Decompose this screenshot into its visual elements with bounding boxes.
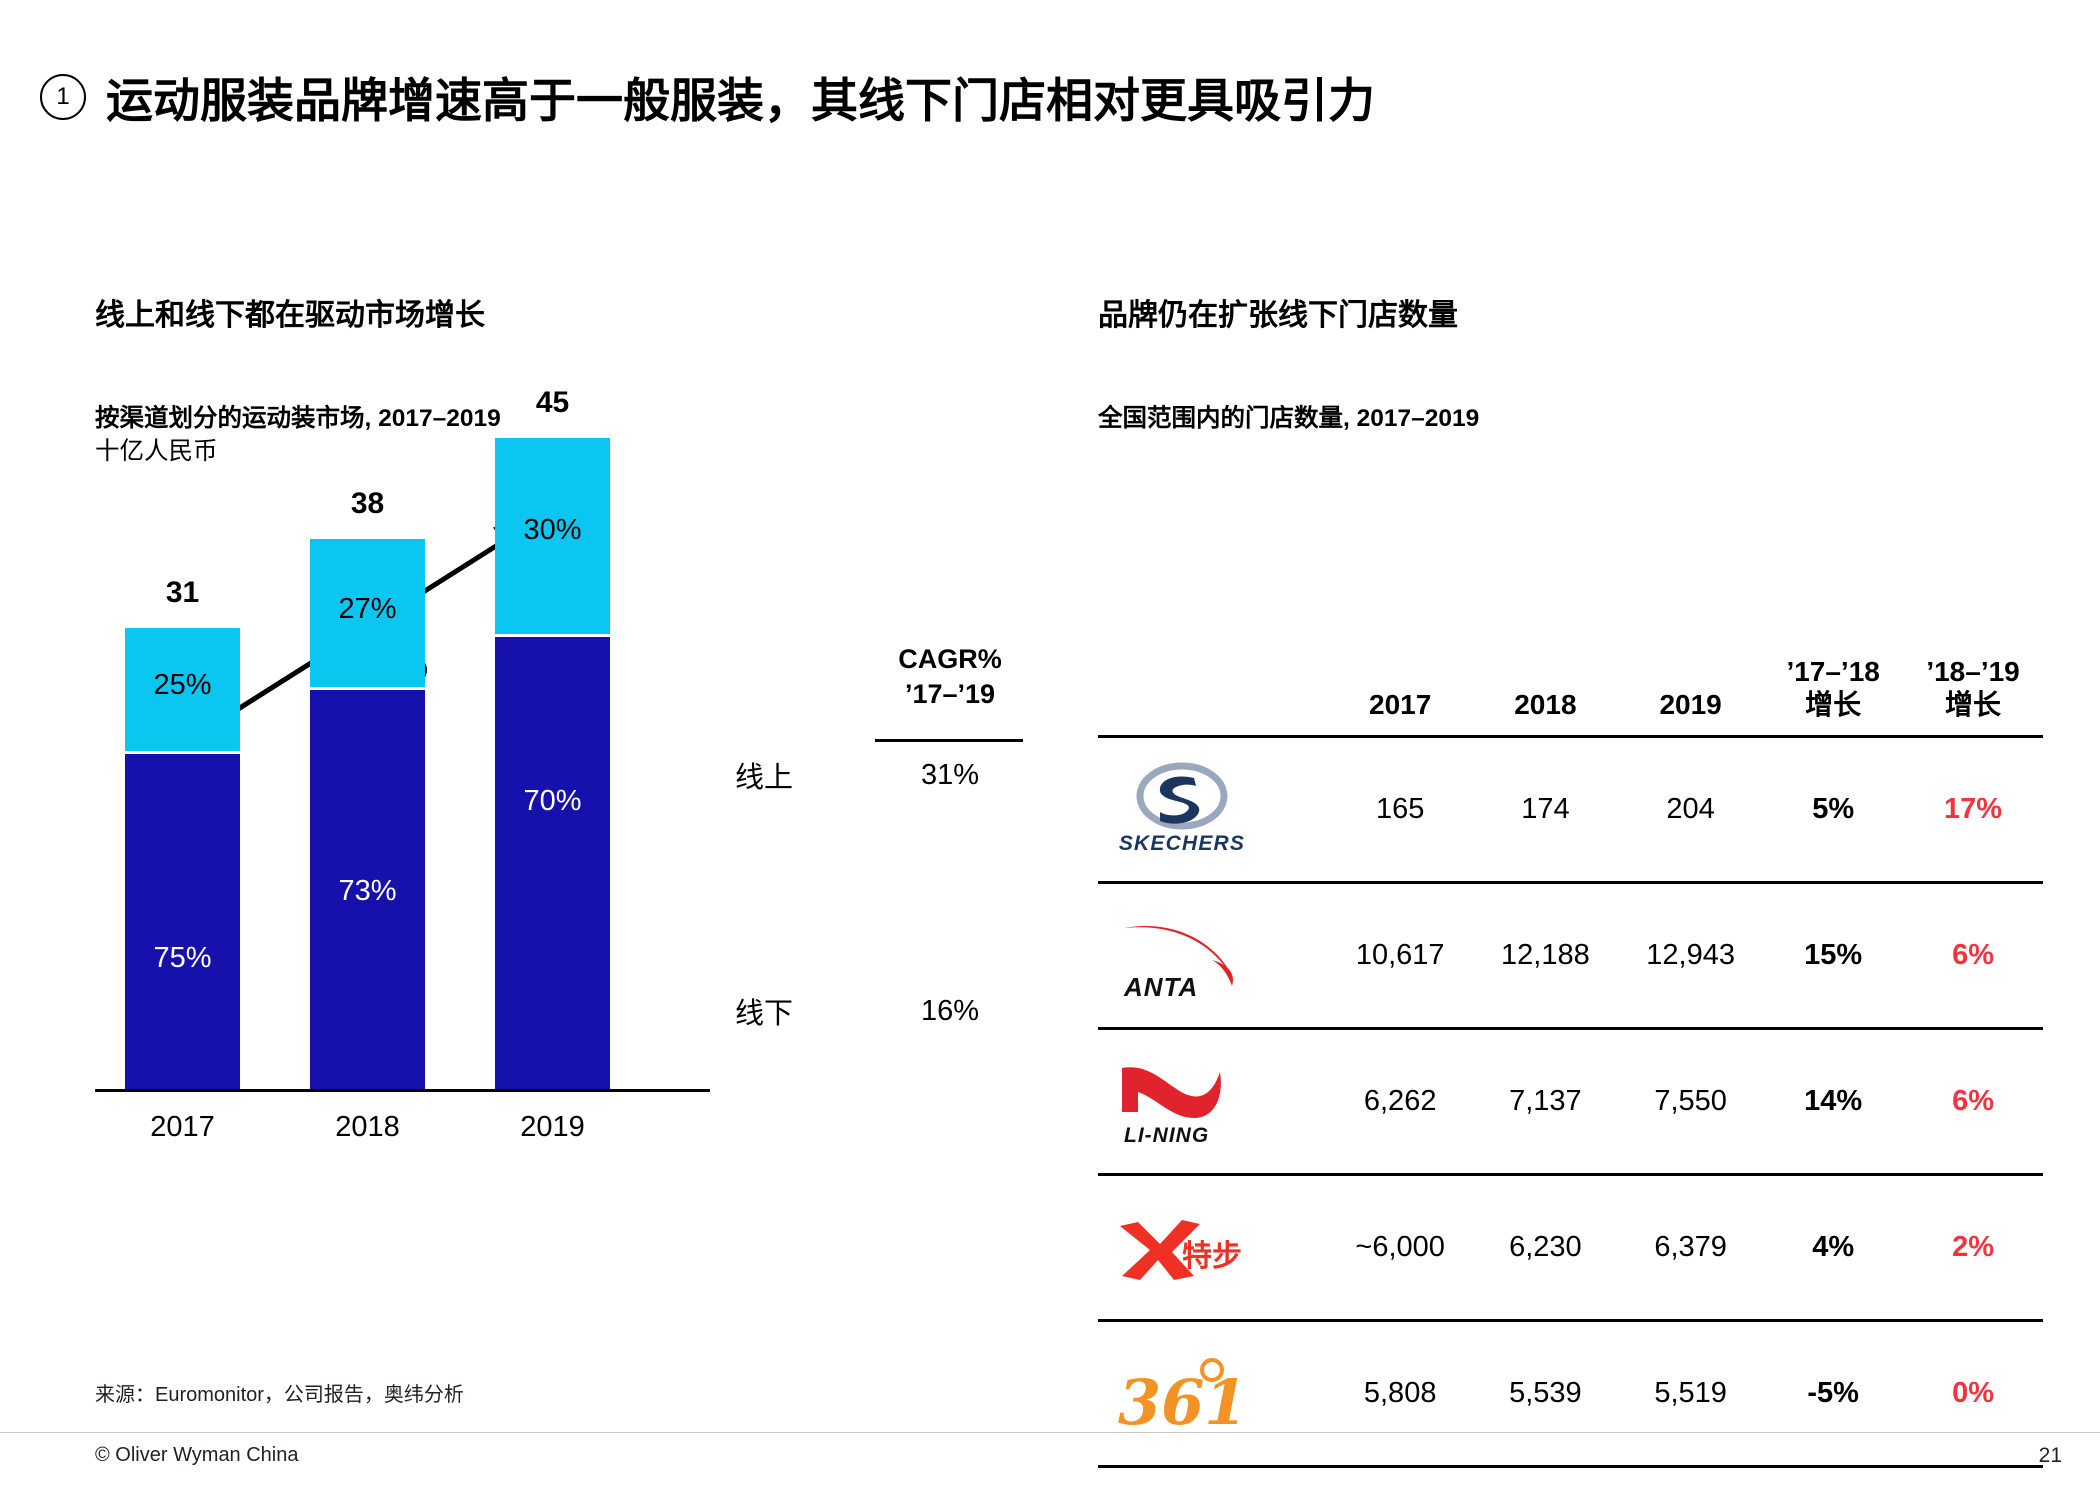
cell-2017: 10,617 <box>1328 883 1473 1029</box>
x-axis-line <box>95 1089 710 1092</box>
cell-2018: 7,137 <box>1473 1029 1618 1175</box>
cagr-header-line2: ’17–’19 <box>875 677 1025 712</box>
bar-group-2019[interactable]: 45 30% 70% <box>495 438 610 1089</box>
cell-2018: 12,188 <box>1473 883 1618 1029</box>
table-row[interactable]: 361 5,808 5,539 5,519 -5% 0% <box>1098 1321 2043 1467</box>
cell-2018: 5,539 <box>1473 1321 1618 1467</box>
brand-cell-skechers: SKECHERS <box>1098 737 1328 883</box>
svg-text:SKECHERS: SKECHERS <box>1119 832 1245 855</box>
bar-label-online-2018: 27% <box>310 593 425 626</box>
cell-2017: ~6,000 <box>1328 1175 1473 1321</box>
bar-label-offline-2018: 73% <box>310 875 425 908</box>
li-ning-logo-icon: LI-NING <box>1116 1054 1301 1150</box>
col-header-2018: 2018 <box>1473 655 1618 737</box>
store-count-table: 2017 2018 2019 ’17–’18 增长 ’18–’19 增长 SKE… <box>1098 655 2043 1468</box>
skechers-logo-icon: SKECHERS <box>1116 762 1301 858</box>
legend-label-online: 线上 <box>735 754 875 796</box>
table-row[interactable]: ANTA 10,617 12,188 12,943 15% 6% <box>1098 883 2043 1029</box>
cell-growth-1819: 17% <box>1903 737 2043 883</box>
svg-text:特步: 特步 <box>1182 1239 1242 1274</box>
col-header-2017: 2017 <box>1328 655 1473 737</box>
cell-2019: 6,379 <box>1618 1175 1763 1321</box>
page-title: 运动服装品牌增速高于一般服装，其线下门店相对更具吸引力 <box>106 62 1375 131</box>
bar-label-offline-2019: 70% <box>495 785 610 818</box>
table-row[interactable]: 特步 ~6,000 6,230 6,379 4% 2% <box>1098 1175 2043 1321</box>
legend-label-offline: 线下 <box>735 990 875 1032</box>
col-header-growth-1819-label: 增长 <box>1903 688 2043 721</box>
right-panel-subtitle: 全国范围内的门店数量, 2017–2019 <box>1098 402 2038 435</box>
cell-2019: 5,519 <box>1618 1321 1763 1467</box>
col-header-growth-1819: ’18–’19 增长 <box>1903 655 2043 737</box>
bar-segment-offline-2019[interactable]: 70% <box>495 634 610 1089</box>
xtep-logo-icon: 特步 <box>1116 1200 1301 1296</box>
cell-2019: 12,943 <box>1618 883 1763 1029</box>
cell-growth-1718: -5% <box>1763 1321 1903 1467</box>
bar-label-online-2017: 25% <box>125 669 240 702</box>
x-tick-2018: 2018 <box>310 1111 425 1144</box>
brand-cell-anta: ANTA <box>1098 883 1328 1029</box>
step-number-badge: 1 <box>40 74 86 120</box>
slide-title-row: 1 运动服装品牌增速高于一般服装，其线下门店相对更具吸引力 <box>40 62 1375 131</box>
cell-2018: 174 <box>1473 737 1618 883</box>
col-header-growth-1718-label: 增长 <box>1763 688 1903 721</box>
brand-cell-xtep: 特步 <box>1098 1175 1328 1321</box>
chart-plot-area: 31 25% 75% 2017 38 27% 73% 2018 <box>95 492 710 1152</box>
bar-total-2018: 38 <box>310 487 425 521</box>
cell-2018: 6,230 <box>1473 1175 1618 1321</box>
brand-cell-361: 361 <box>1098 1321 1328 1467</box>
bar-segment-online-2017[interactable]: 25% <box>125 628 240 751</box>
cagr-value-offline: 16% <box>875 995 1025 1028</box>
brand-361-logo-icon: 361 <box>1116 1346 1301 1442</box>
bar-segment-offline-2017[interactable]: 75% <box>125 751 240 1089</box>
bar-total-2019: 45 <box>495 386 610 420</box>
copyright-note: © Oliver Wyman China <box>95 1444 299 1467</box>
col-header-brand <box>1098 655 1328 737</box>
legend-row-offline: 线下 16% <box>735 990 1025 1032</box>
cell-2017: 5,808 <box>1328 1321 1473 1467</box>
bar-group-2017[interactable]: 31 25% 75% <box>125 628 240 1089</box>
bar-label-offline-2017: 75% <box>125 942 240 975</box>
svg-text:LI-NING: LI-NING <box>1124 1124 1209 1147</box>
cell-2019: 7,550 <box>1618 1029 1763 1175</box>
cagr-header-rule <box>875 739 1023 742</box>
footer-divider <box>0 1432 2100 1433</box>
cell-growth-1718: 4% <box>1763 1175 1903 1321</box>
col-header-growth-1718-period: ’17–’18 <box>1763 655 1903 688</box>
legend-row-online: 线上 31% <box>735 754 1025 796</box>
cell-2017: 6,262 <box>1328 1029 1473 1175</box>
cell-growth-1819: 6% <box>1903 1029 2043 1175</box>
bar-segment-online-2019[interactable]: 30% <box>495 438 610 634</box>
brand-cell-lining: LI-NING <box>1098 1029 1328 1175</box>
col-header-growth-1819-period: ’18–’19 <box>1903 655 2043 688</box>
cagr-header-line1: CAGR% <box>875 642 1025 677</box>
right-panel-heading: 品牌仍在扩张线下门店数量 <box>1098 290 2038 334</box>
bar-segment-online-2018[interactable]: 27% <box>310 539 425 687</box>
x-tick-2019: 2019 <box>495 1111 610 1144</box>
cell-growth-1819: 6% <box>1903 883 2043 1029</box>
cagr-header: CAGR% ’17–’19 <box>875 642 1025 711</box>
col-header-2019: 2019 <box>1618 655 1763 737</box>
cell-growth-1718: 15% <box>1763 883 1903 1029</box>
table-row[interactable]: SKECHERS 165 174 204 5% 17% <box>1098 737 2043 883</box>
svg-text:361: 361 <box>1118 1366 1247 1439</box>
bar-segment-offline-2018[interactable]: 73% <box>310 687 425 1089</box>
bar-total-2017: 31 <box>125 576 240 610</box>
right-panel: 品牌仍在扩张线下门店数量 全国范围内的门店数量, 2017–2019 <box>1098 290 2038 435</box>
table-row[interactable]: LI-NING 6,262 7,137 7,550 14% 6% <box>1098 1029 2043 1175</box>
anta-logo-icon: ANTA <box>1116 908 1301 1004</box>
source-note: 来源：Euromonitor，公司报告，奥纬分析 <box>95 1378 464 1407</box>
left-panel-heading: 线上和线下都在驱动市场增长 <box>95 290 1025 334</box>
left-panel: 线上和线下都在驱动市场增长 按渠道划分的运动装市场, 2017–2019 十亿人… <box>95 290 1025 1212</box>
bar-label-online-2019: 30% <box>495 514 610 547</box>
x-tick-2017: 2017 <box>125 1111 240 1144</box>
bar-group-2018[interactable]: 38 27% 73% <box>310 539 425 1089</box>
svg-text:ANTA: ANTA <box>1123 972 1198 1002</box>
cell-growth-1819: 2% <box>1903 1175 2043 1321</box>
cell-growth-1718: 5% <box>1763 737 1903 883</box>
cell-2019: 204 <box>1618 737 1763 883</box>
cell-growth-1819: 0% <box>1903 1321 2043 1467</box>
table-header-row: 2017 2018 2019 ’17–’18 增长 ’18–’19 增长 <box>1098 655 2043 737</box>
cagr-value-online: 31% <box>875 759 1025 792</box>
page-number: 21 <box>2039 1444 2062 1468</box>
cell-2017: 165 <box>1328 737 1473 883</box>
col-header-growth-1718: ’17–’18 增长 <box>1763 655 1903 737</box>
sportswear-market-chart: +20% 31 25% 75% 2017 38 27% <box>95 492 1025 1212</box>
cell-growth-1718: 14% <box>1763 1029 1903 1175</box>
